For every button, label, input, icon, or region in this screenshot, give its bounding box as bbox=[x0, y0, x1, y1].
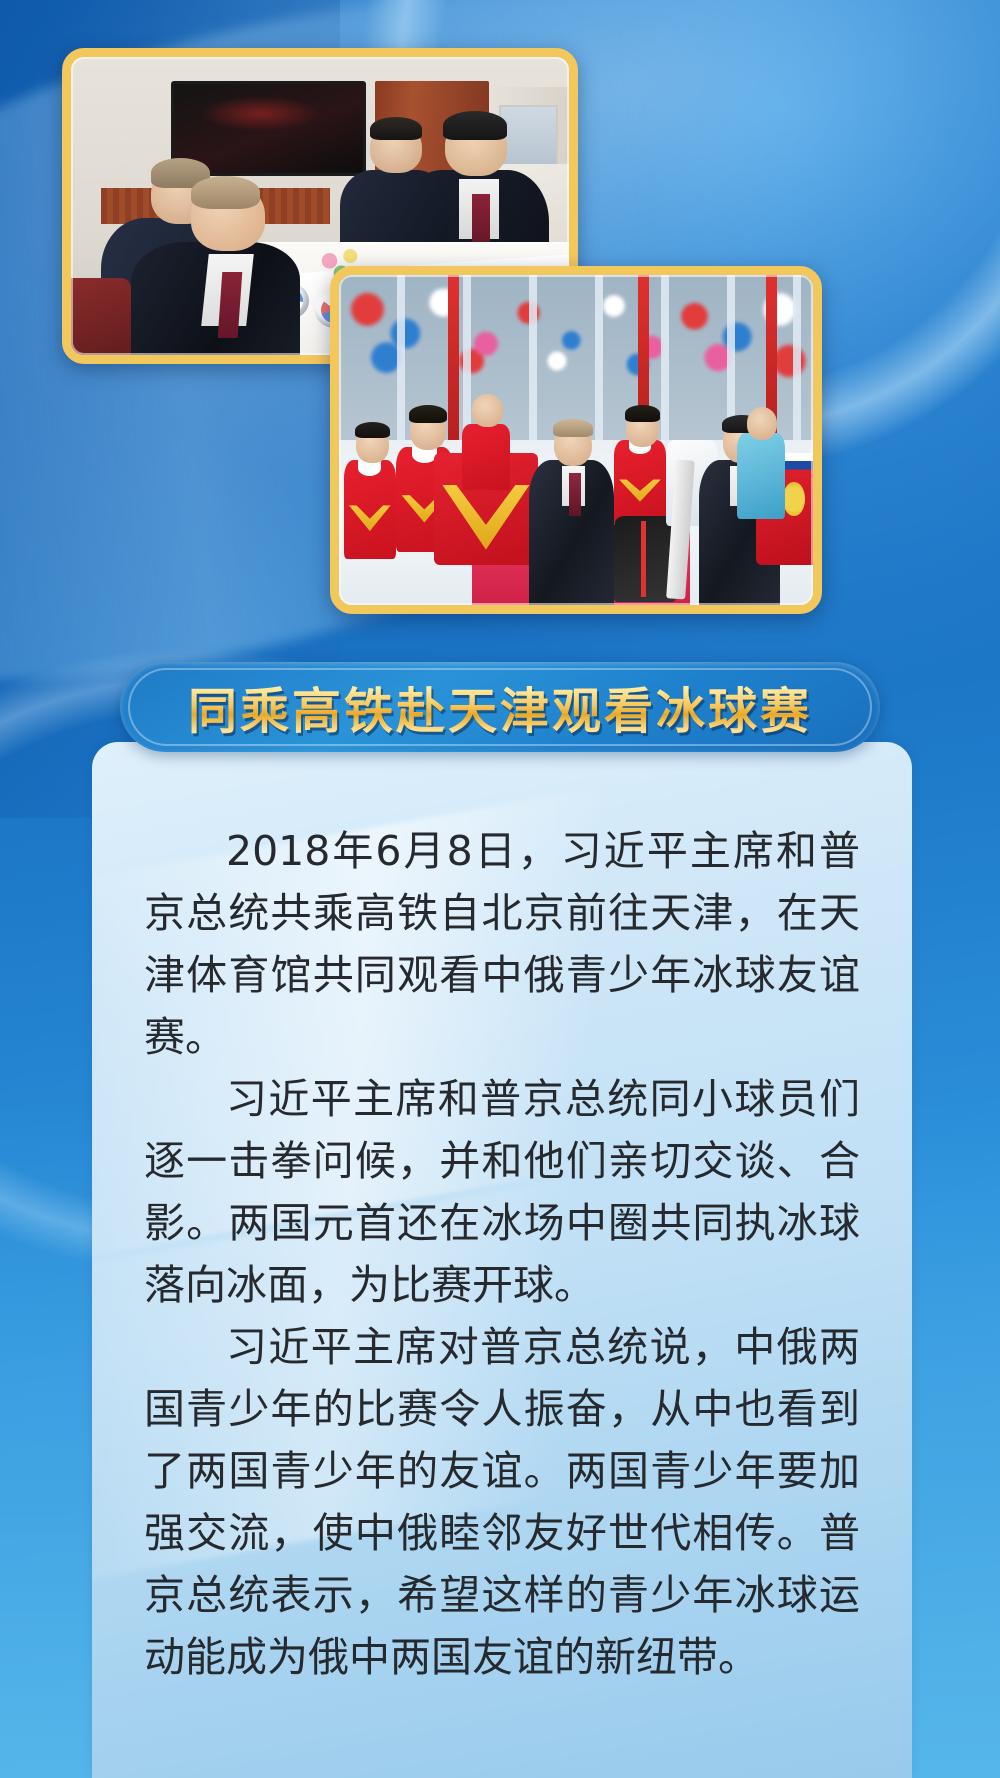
photo-ice-hockey-image bbox=[339, 275, 813, 605]
player-red-3-jersey bbox=[462, 424, 509, 490]
rink-post-left bbox=[448, 275, 459, 447]
page-title: 同乘高铁赴天津观看冰球赛 bbox=[188, 672, 812, 743]
article-body: 2018年6月8日，习近平主席和普京总统共乘高铁自北京前往天津，在天津体育馆共同… bbox=[92, 742, 912, 1688]
figure-putin-hair bbox=[191, 176, 261, 209]
player-red-1-hair bbox=[355, 422, 390, 439]
player-red-4-hair bbox=[625, 405, 660, 422]
player-red-4-jersey bbox=[614, 440, 666, 526]
player-blue-1-head bbox=[747, 407, 778, 440]
article-paragraph-2: 习近平主席和普京总统同小球员们逐一击拳问候，并和他们亲切交谈、合影。两国元首还在… bbox=[144, 1068, 860, 1316]
player-red-2-hair bbox=[409, 405, 447, 423]
train-monitor-glow bbox=[200, 96, 320, 132]
player-red-1-jersey bbox=[344, 460, 396, 559]
figure-xi-hair bbox=[443, 111, 508, 141]
title-banner: 同乘高铁赴天津观看冰球赛 bbox=[120, 662, 880, 752]
article-paragraph-3: 习近平主席对普京总统说，中俄两国青少年的比赛令人振奋，从中也看到了两国青少年的友… bbox=[144, 1316, 860, 1688]
figure-translator-hair bbox=[370, 117, 422, 141]
poster-root: 2018年6月8日，习近平主席和普京总统共乘高铁自北京前往天津，在天津体育馆共同… bbox=[0, 0, 1000, 1778]
article-paragraph-1: 2018年6月8日，习近平主席和普京总统共乘高铁自北京前往天津，在天津体育馆共同… bbox=[144, 820, 860, 1068]
train-chair-left bbox=[71, 278, 131, 355]
player-blue-1-jersey bbox=[737, 433, 784, 519]
russia-crest-icon bbox=[783, 482, 804, 516]
player-red-3-head bbox=[472, 394, 503, 427]
photo-ice-hockey bbox=[330, 266, 822, 614]
article-panel: 2018年6月8日，习近平主席和普京总统共乘高铁自北京前往天津，在天津体育馆共同… bbox=[92, 742, 912, 1778]
figure-putin-tie bbox=[569, 473, 580, 516]
figure-putin-hair bbox=[553, 419, 593, 437]
